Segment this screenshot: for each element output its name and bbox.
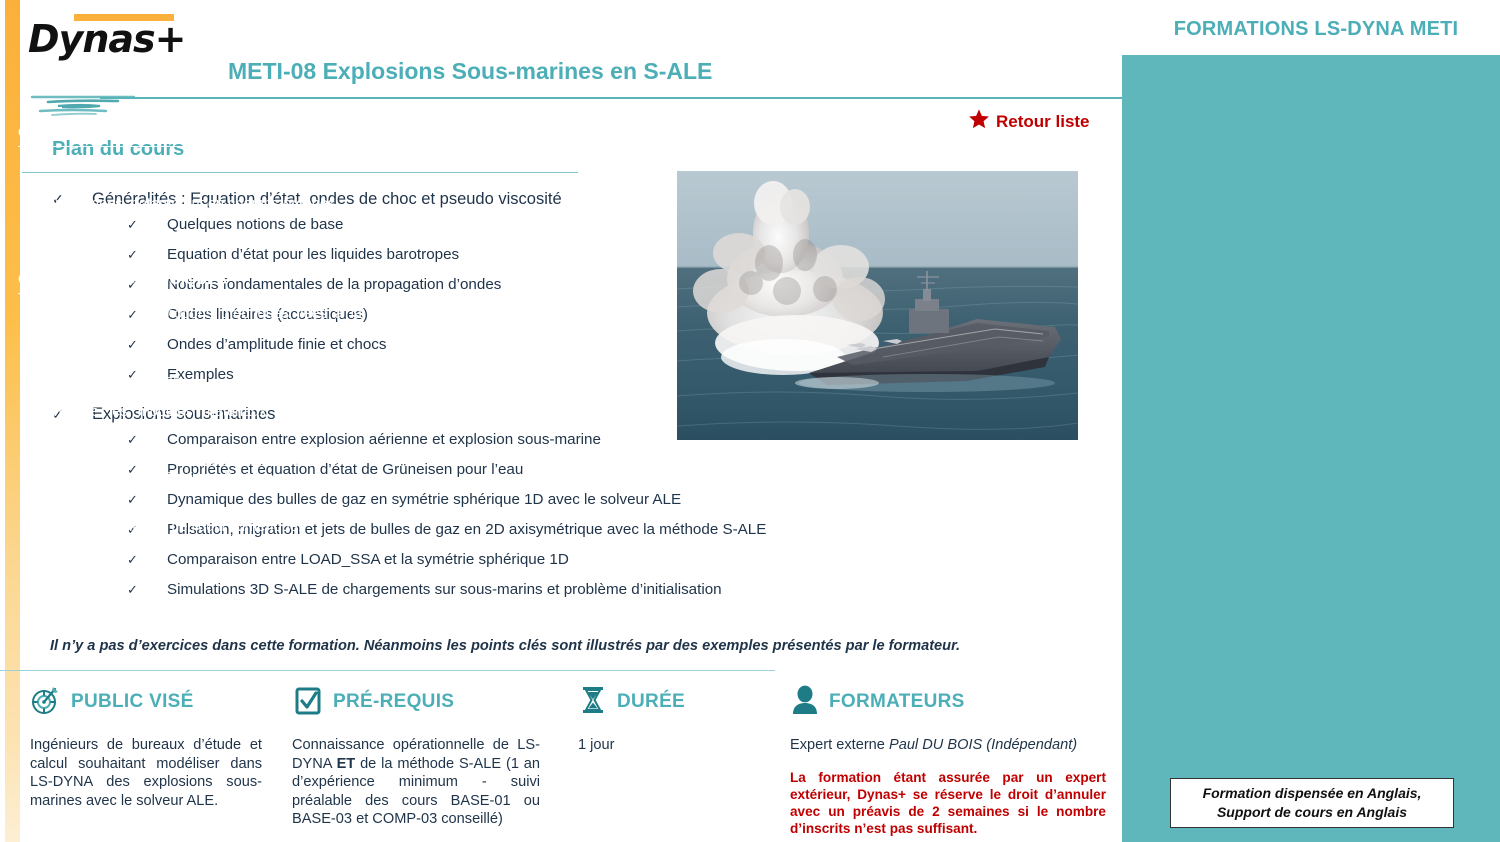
check-icon: ✓ [18,305,35,342]
wave-graphic [30,92,140,118]
footer-heading-label: DURÉE [617,691,685,713]
footer-body: Ingénieurs de bureaux d’étude et calcul … [30,736,262,810]
objective-label: Connaître les limites de l’outil numériq… [35,518,362,536]
footer-divider [0,670,775,671]
sidebar-divider [18,146,362,147]
sidebar-divider [18,293,362,294]
footer-body: 1 jour [578,736,768,755]
back-to-list-link[interactable]: Retour liste [968,108,1090,135]
outline-item-label: Simulations 3D S-ALE de chargements sur … [167,581,722,598]
check-icon: ✓ [18,403,35,440]
outline-item: ✓ Simulations 3D S-ALE de chargements su… [22,581,1112,598]
back-to-list-label: Retour liste [996,112,1090,132]
check-icon: ✓ [22,582,167,598]
checkbox-icon [292,684,324,721]
catalog-title: FORMATIONS LS-DYNA METI [1140,18,1492,41]
course-note: Il n’y a pas d’exercices dans cette form… [50,638,1090,654]
check-icon: ✓ [18,451,35,506]
objective-label: Se remémorer les notions théoriques liée… [35,305,362,342]
objective-item: ✓ Comprendre les spécificités de modélis… [18,354,362,391]
cancellation-warning: La formation étant assurée par un expert… [790,769,1106,838]
outline-item-label: Comparaison entre LOAD_SSA et la symétri… [167,551,569,568]
check-icon: ✓ [22,552,167,568]
footer-column-formateurs: FORMATEURS Expert externe Paul DU BOIS (… [790,682,1106,837]
target-icon [30,684,62,721]
language-note-line1: Formation dispensée en Anglais, [1203,784,1422,803]
logo-text: Dynas+ [28,17,185,61]
footer-body: Expert externe Paul DU BOIS (Indépendant… [790,736,1106,755]
check-icon: ✓ [18,518,35,536]
language-note-box: Formation dispensée en Anglais, Support … [1170,778,1454,828]
objectives-sidebar [1122,55,1500,842]
outline-item: ✓ Comparaison entre LOAD_SSA et la symét… [22,551,1112,568]
footer-heading: DURÉE [578,682,768,722]
language-note-line2: Support de cours en Anglais [1203,803,1422,822]
main-objective-block: OBJECTIF PRINCIPAL ✓ Savoir utiliser la … [18,125,362,225]
objective-label: Appréhender et comparer les différentes … [35,451,362,506]
objective-item: ✓ Connaître les limites de l’outil numér… [18,518,362,536]
outline-item-label: Equation d’état pour les liquides barotr… [167,246,459,263]
dynas-logo: Dynas+ [28,14,178,64]
check-icon: ✓ [18,354,35,391]
pedagogical-objectives-block: OBJECTIFS PEDAGOGIQUES ✓ Se remémorer le… [18,272,362,549]
footer-heading: PUBLIC VISÉ [30,682,262,722]
objective-item: ✓ Appréhender et comparer les différente… [18,451,362,506]
objective-label: Connaître les modèles matériaux et équat… [35,403,362,440]
pre-requis-bold: ET [337,756,356,772]
footer-heading-label: PRÉ-REQUIS [333,691,454,713]
footer-heading: PRÉ-REQUIS [292,682,540,722]
check-icon: ✓ [22,247,167,263]
objective-label: Savoir utiliser la méthode S-ALE de LS-D… [35,158,362,213]
check-icon: ✓ [18,158,35,213]
footer-heading-label: PUBLIC VISÉ [71,691,194,713]
outline-item: ✓ Equation d’état pour les liquides baro… [22,246,672,263]
footer-column-duree: DURÉE 1 jour [578,682,768,755]
footer-heading: FORMATEURS [790,682,1106,722]
footer-body: Connaissance opérationnelle de LS-DYNA E… [292,736,540,829]
footer-column-pre-requis: PRÉ-REQUIS Connaissance opérationnelle d… [292,682,540,829]
footer-column-public-vise: PUBLIC VISÉ Ingénieurs de bureaux d’étud… [30,682,262,810]
pedagogical-objectives-title: OBJECTIFS PEDAGOGIQUES [18,272,362,288]
header-divider [100,97,1122,99]
page-title: METI-08 Explosions Sous-marines en S-ALE [228,58,712,85]
footer-heading-label: FORMATEURS [829,691,965,713]
objective-item: ✓ Savoir utiliser la méthode S-ALE de LS… [18,158,362,213]
objective-item: ✓ Connaître les modèles matériaux et équ… [18,403,362,440]
hourglass-icon [578,684,608,721]
course-illustration [677,171,1078,440]
main-objective-title: OBJECTIF PRINCIPAL [18,125,362,141]
trainer-pre: Expert externe [790,737,889,753]
person-icon [790,684,820,721]
trainer-name: Paul DU BOIS (Indépendant) [889,737,1077,753]
objective-item: ✓ Se remémorer les notions théoriques li… [18,305,362,342]
objective-label: Comprendre les spécificités de modélisat… [35,354,362,391]
star-icon [968,108,990,135]
